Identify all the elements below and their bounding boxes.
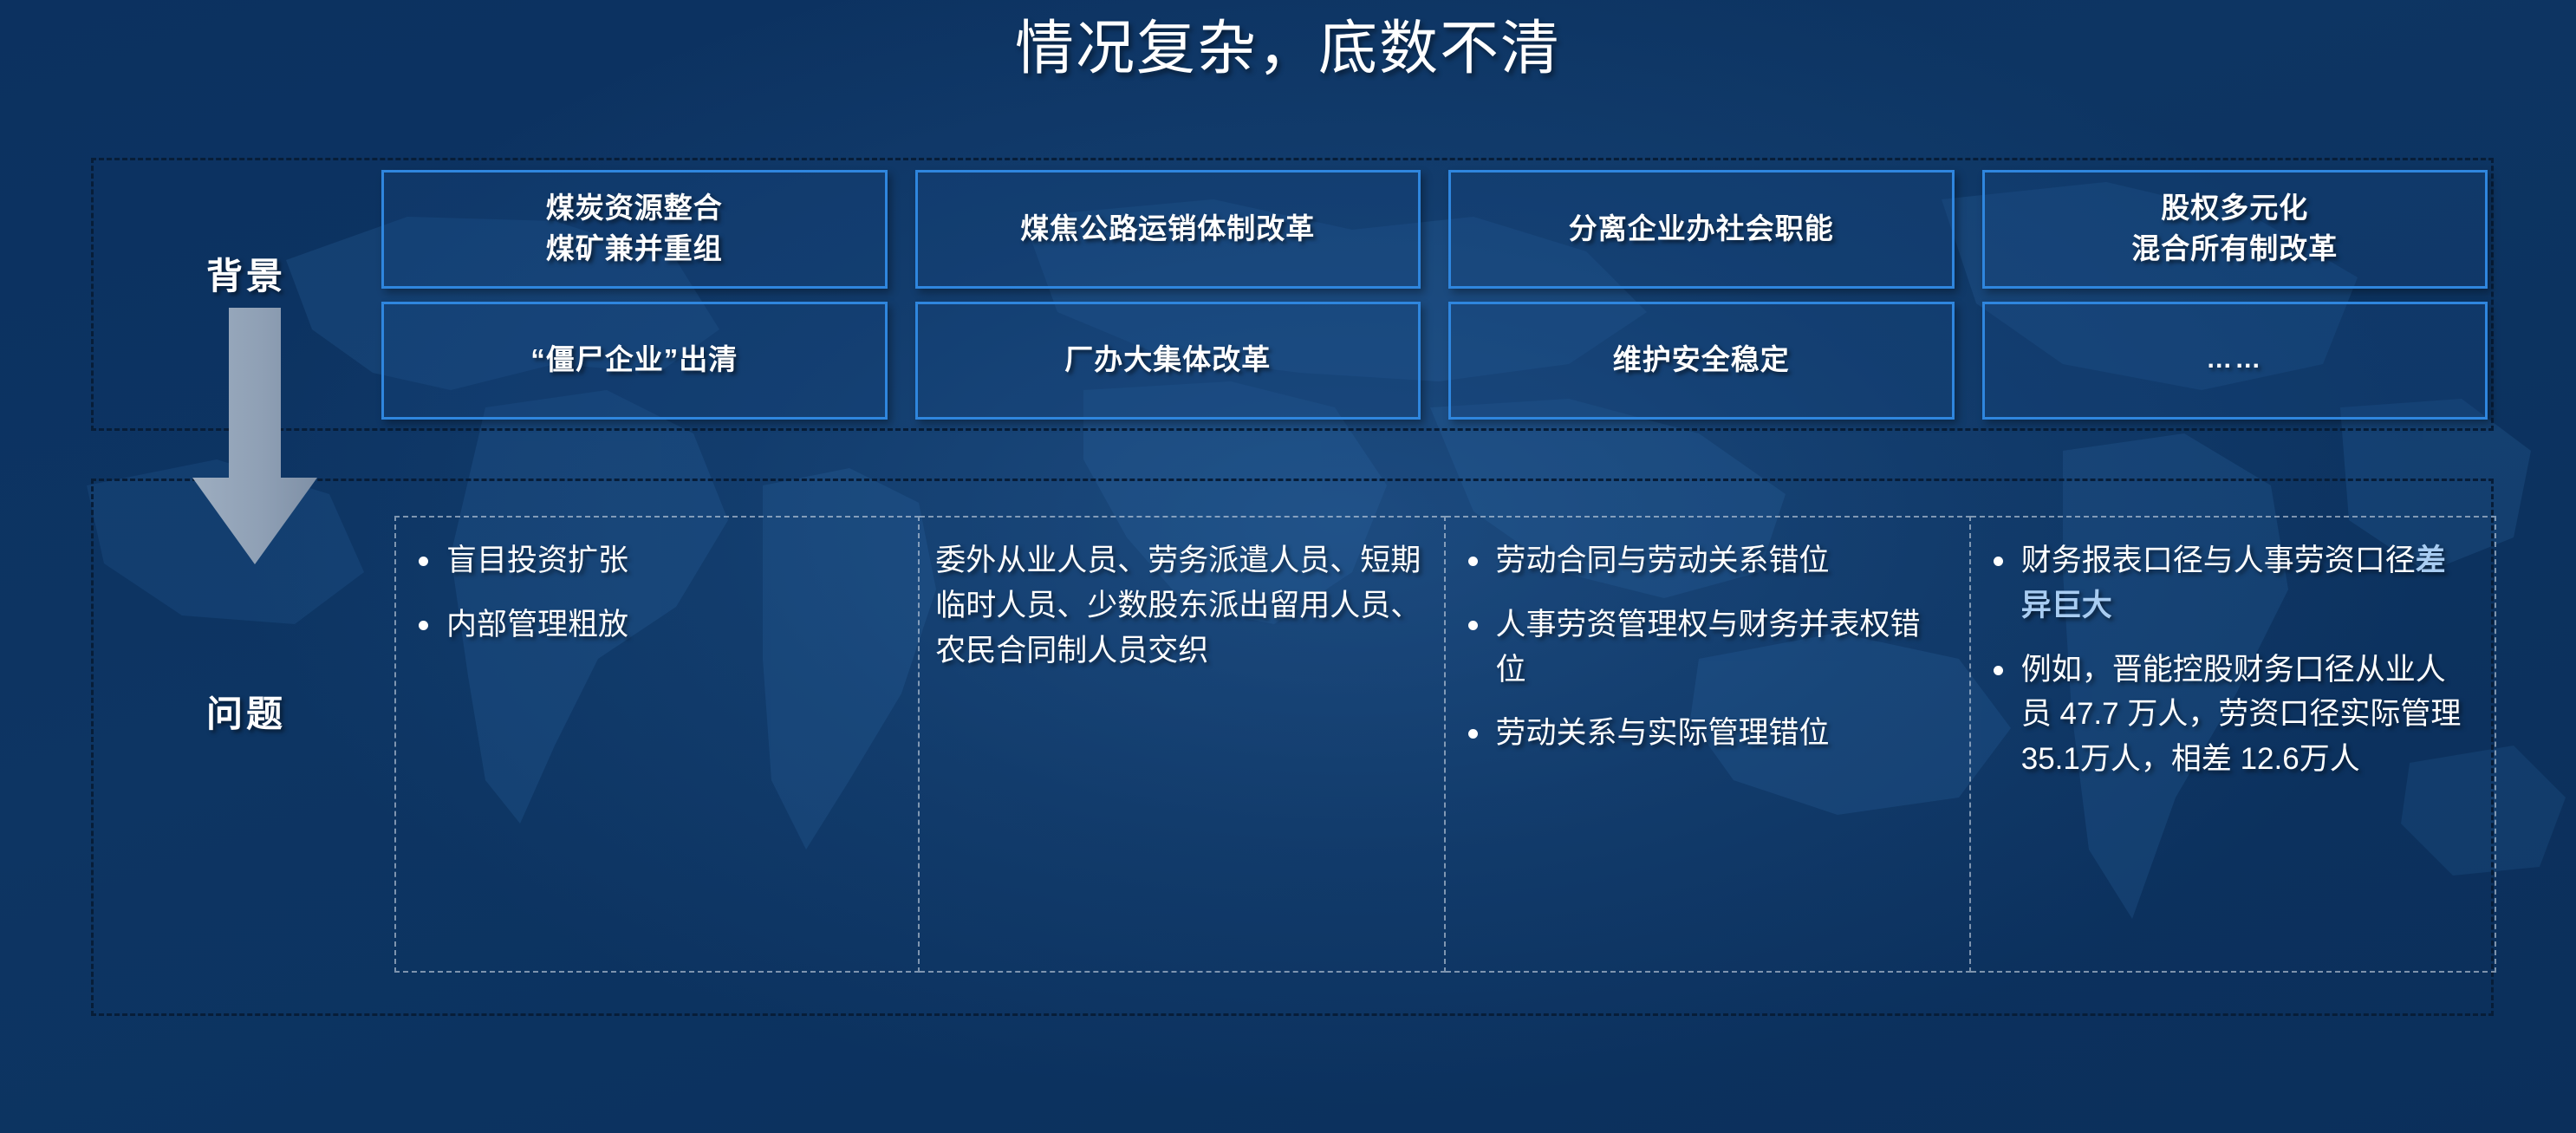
problem-paragraph: 委外从业人员、劳务派遣人员、短期临时人员、少数股东派出留用人员、农民合同制人员交…	[932, 538, 1424, 673]
slide-title: 情况复杂，底数不清	[0, 12, 2576, 86]
problem-column-grid: 盲目投资扩张 内部管理粗放 委外从业人员、劳务派遣人员、短期临时人员、少数股东派…	[394, 516, 2496, 973]
list-item: 盲目投资扩张	[408, 538, 899, 583]
list-item-text: 例如，晋能控股财务口径从业人员 47.7 万人，劳资口径实际管理 35.1万人，…	[2021, 653, 2462, 777]
problem-bullet-list: 盲目投资扩张 内部管理粗放	[408, 538, 899, 648]
list-item: 例如，晋能控股财务口径从业人员 47.7 万人，劳资口径实际管理 35.1万人，…	[1983, 648, 2475, 782]
background-box[interactable]: 厂办大集体改革	[915, 302, 1421, 420]
list-item: 劳动关系与实际管理错位	[1458, 711, 1950, 756]
problem-column-4: 财务报表口径与人事劳资口径差异巨大 例如，晋能控股财务口径从业人员 47.7 万…	[1971, 516, 2496, 973]
slide-canvas: 情况复杂，底数不清 背景 问题 煤炭资源整合 煤矿兼并重组 煤焦公路运销体制改革…	[0, 0, 2576, 1133]
background-box[interactable]: “僵尸企业”出清	[381, 302, 888, 420]
down-arrow-icon	[189, 308, 321, 568]
background-box[interactable]: 股权多元化 混合所有制改革	[1982, 170, 2488, 289]
problem-bullet-list: 财务报表口径与人事劳资口径差异巨大 例如，晋能控股财务口径从业人员 47.7 万…	[1983, 538, 2475, 782]
background-box[interactable]: 分离企业办社会职能	[1448, 170, 1955, 289]
problem-column-3: 劳动合同与劳动关系错位 人事劳资管理权与财务并表权错位 劳动关系与实际管理错位	[1446, 516, 1971, 973]
background-row-label: 背景	[206, 247, 286, 300]
problem-row-label: 问题	[206, 685, 286, 738]
list-item: 财务报表口径与人事劳资口径差异巨大	[1983, 538, 2475, 628]
problem-bullet-list: 劳动合同与劳动关系错位 人事劳资管理权与财务并表权错位 劳动关系与实际管理错位	[1458, 538, 1950, 756]
background-box[interactable]: 煤炭资源整合 煤矿兼并重组	[381, 170, 888, 289]
list-item: 劳动合同与劳动关系错位	[1458, 538, 1950, 583]
list-item: 人事劳资管理权与财务并表权错位	[1458, 602, 1950, 693]
problem-column-1: 盲目投资扩张 内部管理粗放	[394, 516, 920, 973]
list-item: 内部管理粗放	[408, 602, 899, 648]
background-box-ellipsis[interactable]: ……	[1982, 302, 2488, 420]
problem-column-2: 委外从业人员、劳务派遣人员、短期临时人员、少数股东派出留用人员、农民合同制人员交…	[920, 516, 1445, 973]
list-item-text: 财务报表口径与人事劳资口径	[2021, 544, 2416, 577]
background-box[interactable]: 维护安全稳定	[1448, 302, 1955, 420]
background-box-grid: 煤炭资源整合 煤矿兼并重组 煤焦公路运销体制改革 分离企业办社会职能 股权多元化…	[381, 170, 2488, 420]
background-box[interactable]: 煤焦公路运销体制改革	[915, 170, 1421, 289]
